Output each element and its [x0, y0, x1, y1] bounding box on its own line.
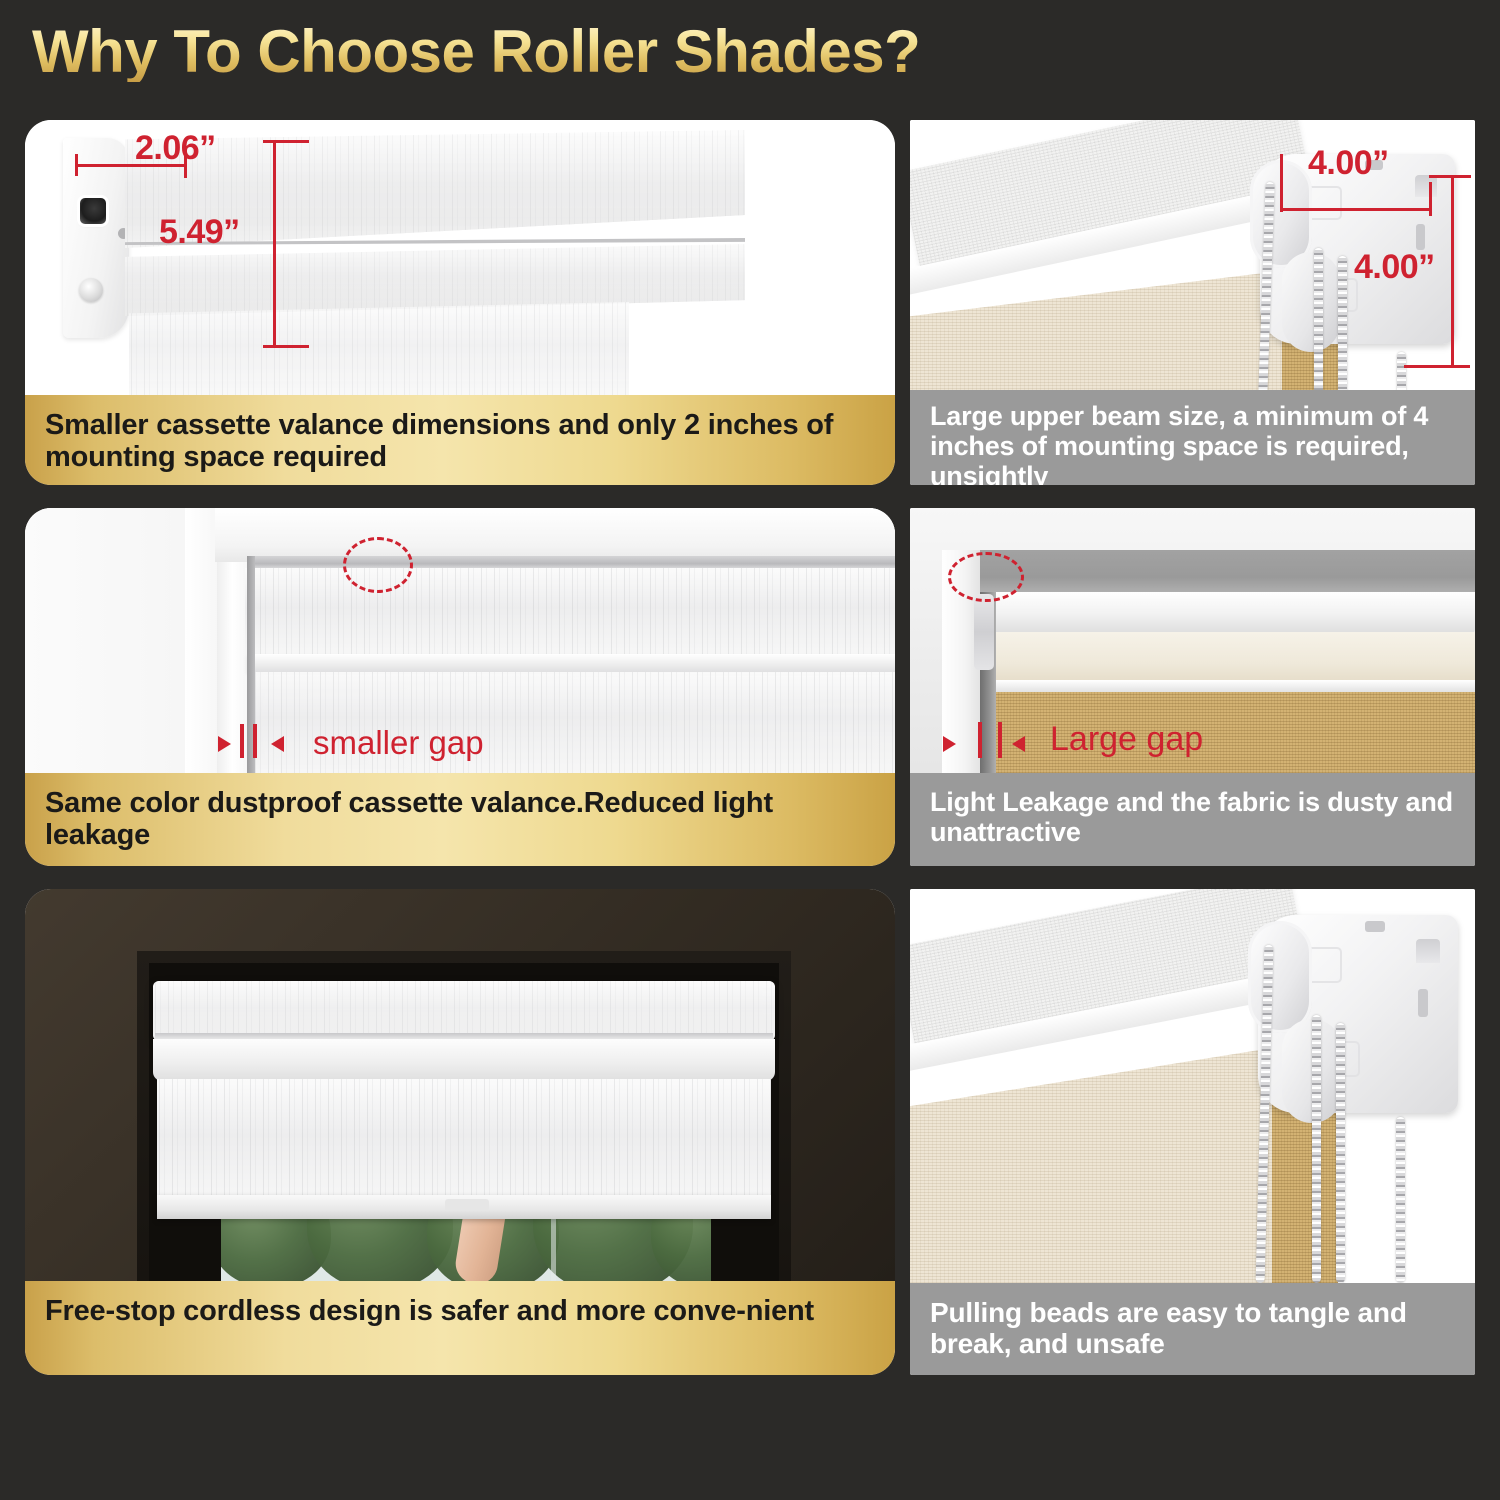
shade-head-texture — [153, 981, 775, 1041]
panel-1-caption: Smaller cassette valance dimensions and … — [25, 395, 895, 485]
gap-arrow-right — [1012, 736, 1025, 752]
panel-3-caption: Same color dustproof cassette valance.Re… — [25, 773, 895, 866]
bead-chain-scene — [910, 889, 1475, 1283]
panel-2-photo: 4.00” 4.00” — [910, 120, 1475, 390]
panel-2-caption: Large upper beam size, a minimum of 4 in… — [910, 390, 1475, 485]
smaller-gap-label: smaller gap — [313, 724, 484, 762]
window-valance-scene: smaller gap — [25, 508, 895, 773]
gap-arrow-right — [271, 736, 284, 752]
panel-cordless-design: Free-stop cordless design is safer and m… — [25, 889, 895, 1375]
leak-cream-band — [988, 632, 1475, 684]
beam-width-tick-left — [1280, 154, 1283, 212]
page-title: Why To Choose Roller Shades? — [32, 22, 920, 82]
room-window-scene — [25, 889, 895, 1281]
roller-end-disc — [1248, 921, 1312, 1033]
beige-hanging-fabric — [910, 270, 1288, 390]
bead-chain-right — [1338, 256, 1347, 390]
bracket-slot-top — [1416, 939, 1440, 963]
beige-hanging-fabric — [910, 1047, 1278, 1283]
beam-width-line — [1280, 208, 1432, 211]
bracket-notch — [1365, 921, 1385, 932]
panel-5-photo — [25, 889, 895, 1281]
bead-chain-right — [1336, 1023, 1345, 1283]
width-dimension-tick-left — [75, 154, 78, 176]
beam-height-tick-top — [1429, 175, 1471, 178]
height-dimension-label: 5.49” — [159, 213, 240, 252]
gap-bar-b — [998, 722, 1002, 758]
height-dimension-line — [273, 140, 276, 348]
roller-end-disc-lower — [1282, 252, 1340, 352]
valance-fabric-band — [245, 568, 895, 656]
gap-bar-a — [240, 724, 244, 758]
light-leak-scene: Large gap — [910, 508, 1475, 773]
gap-arrow-left — [943, 736, 956, 752]
highlight-circle — [948, 552, 1024, 602]
panel-pulling-beads: Pulling beads are easy to tangle and bre… — [910, 889, 1475, 1375]
bead-chain-middle — [1314, 248, 1323, 390]
roller-bracket-scene-top: 4.00” 4.00” — [910, 120, 1475, 390]
leak-bracket-clip — [974, 594, 994, 670]
bracket-slot-top — [1415, 175, 1437, 197]
panel-4-caption: Light Leakage and the fabric is dusty an… — [910, 773, 1475, 866]
valance-bottom-lip — [247, 654, 895, 672]
panel-light-leakage: Large gap Light Leakage and the fabric i… — [910, 508, 1475, 866]
shade-bottom-rail-tab — [445, 1199, 489, 1211]
large-gap-label: Large gap — [1050, 720, 1203, 759]
infographic-root: Why To Choose Roller Shades? — [0, 0, 1500, 1500]
cassette-lower-texture — [125, 244, 745, 316]
beam-width-tick-right — [1429, 182, 1432, 216]
bead-chain-outer — [1396, 1117, 1405, 1283]
panel-1-photo: 5.49” 2.06” — [25, 120, 895, 395]
leak-ceiling-band — [980, 550, 1475, 596]
gap-arrow-left — [218, 736, 231, 752]
cassette-screw-lower — [79, 278, 103, 302]
highlight-circle — [343, 537, 413, 593]
panel-6-caption: Pulling beads are easy to tangle and bre… — [910, 1283, 1475, 1375]
window-frame-molding-inner — [185, 508, 217, 773]
leak-cream-lip — [988, 680, 1475, 692]
cassette-end-cap — [63, 138, 129, 338]
cassette-mechanism-port — [80, 198, 106, 224]
width-dimension-label: 2.06” — [135, 129, 216, 168]
window-frame-header — [215, 508, 895, 562]
panel-6-photo — [910, 889, 1475, 1283]
shade-roll-lip — [153, 1039, 775, 1081]
shade-main-fabric — [157, 1079, 771, 1204]
panel-4-photo: Large gap — [910, 508, 1475, 773]
bead-chain-outer — [1397, 352, 1406, 390]
gap-bar-b — [253, 724, 257, 758]
panel-smaller-cassette: 5.49” 2.06” Smaller cassette valance dim… — [25, 120, 895, 485]
beam-height-line — [1451, 175, 1454, 367]
beam-height-label: 4.00” — [1354, 248, 1435, 287]
beam-height-tick-bottom — [1404, 365, 1470, 368]
leak-roller-tube — [980, 592, 1475, 636]
bracket-slot-mid — [1416, 224, 1425, 250]
panel-dustproof-valance: smaller gap Same color dustproof cassett… — [25, 508, 895, 866]
height-dimension-tick-top — [263, 140, 309, 143]
beam-width-label: 4.00” — [1308, 144, 1389, 183]
panel-5-caption: Free-stop cordless design is safer and m… — [25, 1281, 895, 1375]
height-dimension-tick-bottom — [263, 345, 309, 348]
cassette-hanging-fabric — [129, 302, 629, 395]
panel-3-photo: smaller gap — [25, 508, 895, 773]
bracket-slot-mid — [1418, 989, 1428, 1017]
gap-bar-a — [978, 722, 982, 758]
bead-chain-middle — [1312, 1015, 1321, 1283]
cassette-product-scene: 5.49” 2.06” — [25, 120, 895, 395]
panel-large-beam: 4.00” 4.00” Large upper beam size, a min… — [910, 120, 1475, 485]
